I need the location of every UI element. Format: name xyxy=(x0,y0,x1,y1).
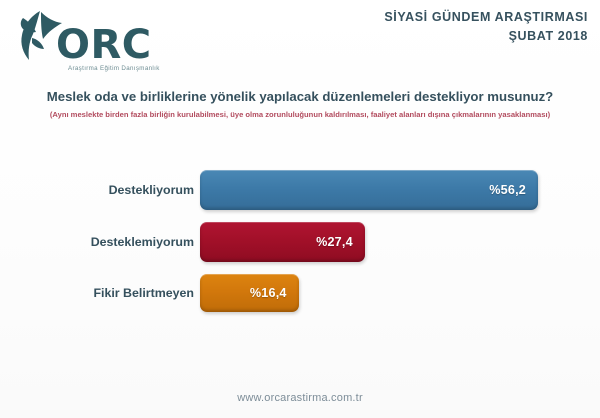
bar-fikir-belirtmeyen: %16,4 xyxy=(200,274,299,312)
brand-wordmark: ORC xyxy=(56,25,152,65)
bar-value-label: %56,2 xyxy=(489,183,526,197)
bar-desteklemiyorum: %27,4 xyxy=(200,222,365,262)
bar-category-label: Destekliyorum xyxy=(0,183,200,197)
poll-result-poster: ORC Araştırma Eğitim Danışmanlık SİYASİ … xyxy=(0,0,600,418)
brand-logo: ORC Araştırma Eğitim Danışmanlık xyxy=(8,8,208,74)
results-bar-chart: Destekliyorum %56,2 Desteklemiyorum %27,… xyxy=(0,170,600,335)
chart-row: Desteklemiyorum %27,4 xyxy=(0,222,600,262)
question-main-text: Meslek oda ve birliklerine yönelik yapıl… xyxy=(0,88,600,106)
website-url: www.orcarastirma.com.tr xyxy=(237,392,363,404)
chart-row: Destekliyorum %56,2 xyxy=(0,170,600,210)
bar-destekliyorum: %56,2 xyxy=(200,170,538,210)
survey-title: SİYASİ GÜNDEM ARAŞTIRMASI xyxy=(384,8,588,27)
header-title-block: SİYASİ GÜNDEM ARAŞTIRMASI ŞUBAT 2018 xyxy=(384,8,588,46)
bar-track: %27,4 xyxy=(200,222,600,262)
chart-row: Fikir Belirtmeyen %16,4 xyxy=(0,274,600,312)
survey-period: ŞUBAT 2018 xyxy=(384,27,588,46)
bar-track: %56,2 xyxy=(200,170,600,210)
bar-value-label: %16,4 xyxy=(250,286,287,300)
question-sub-text: (Aynı meslekte birden fazla birliğin kur… xyxy=(0,110,600,120)
poster-header: ORC Araştırma Eğitim Danışmanlık SİYASİ … xyxy=(0,0,600,80)
brand-tagline: Araştırma Eğitim Danışmanlık xyxy=(68,65,160,72)
bar-track: %16,4 xyxy=(200,274,600,312)
bar-category-label: Fikir Belirtmeyen xyxy=(0,286,200,300)
bar-value-label: %27,4 xyxy=(316,235,353,249)
poster-footer: www.orcarastirma.com.tr xyxy=(0,388,600,406)
question-block: Meslek oda ve birliklerine yönelik yapıl… xyxy=(0,88,600,120)
bar-category-label: Desteklemiyorum xyxy=(0,235,200,249)
